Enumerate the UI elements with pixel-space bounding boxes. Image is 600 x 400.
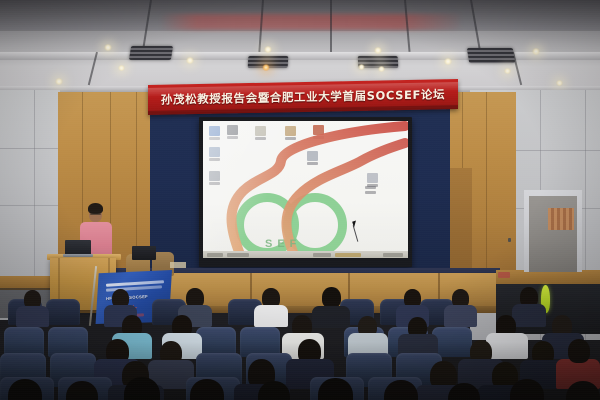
- ceiling-vent: [467, 48, 515, 63]
- ceiling-spotlight: [264, 46, 272, 53]
- ceiling-spotlight-amber: [262, 64, 270, 71]
- doorway-interior-light: [548, 208, 574, 230]
- ceiling-seam: [330, 0, 332, 52]
- audience-head: [322, 287, 341, 308]
- ceiling: [0, 0, 600, 92]
- ceiling-spotlight: [378, 66, 385, 72]
- ceiling-spotlight: [504, 68, 511, 74]
- ceiling-vent: [129, 46, 173, 60]
- audience-head: [448, 383, 480, 400]
- taskbar-item[interactable]: [313, 253, 331, 257]
- audience-head: [566, 381, 600, 400]
- logo-bottom-text: SEF: [265, 238, 301, 250]
- ceiling-spotlight: [104, 44, 112, 51]
- ceiling-spotlight: [374, 47, 382, 54]
- event-banner: 孙茂松教授报告会暨合肥工业大学首届SOCSEF论坛: [148, 79, 458, 115]
- taskbar-item[interactable]: [383, 253, 403, 257]
- ceiling-spotlight: [55, 78, 63, 85]
- speaker-laptop-base[interactable]: [63, 254, 93, 257]
- logo-swooshes: [203, 121, 408, 258]
- audience-area: [0, 285, 600, 400]
- ceiling-spotlight: [556, 80, 563, 86]
- taskbar-item[interactable]: [207, 253, 223, 257]
- wall-panel-line: [0, 148, 60, 149]
- audience-head: [384, 380, 418, 400]
- audience-head: [258, 381, 290, 400]
- audience-head: [318, 378, 353, 400]
- audience-head: [190, 379, 224, 400]
- audience-head: [66, 381, 98, 400]
- audience-head: [124, 377, 160, 400]
- projection-screen[interactable]: SEF: [203, 121, 408, 258]
- taskbar-item[interactable]: [227, 253, 249, 257]
- ceiling-spotlight: [118, 65, 125, 71]
- ceiling-spotlight: [186, 57, 194, 64]
- small-red-object: [498, 272, 510, 278]
- ceiling-spotlight: [444, 58, 452, 65]
- speaker-glasses-icon: [90, 213, 101, 215]
- audience-head: [510, 379, 544, 400]
- lecture-hall-photo: 孙茂松教授报告会暨合肥工业大学首届SOCSEF论坛: [0, 0, 600, 400]
- seat-row-front: [0, 381, 600, 400]
- doorway-handle-icon[interactable]: [508, 238, 511, 242]
- ceiling-spotlight: [358, 64, 365, 70]
- wall-panel-line: [0, 205, 60, 206]
- stage-monitor: [132, 246, 156, 260]
- ceiling-spotlight: [532, 48, 540, 55]
- ceiling-seam: [0, 30, 600, 31]
- projection-screen-frame: SEF: [199, 117, 412, 267]
- speaker-laptop-screen[interactable]: [65, 240, 91, 255]
- taskbar-item[interactable]: [335, 253, 361, 257]
- wood-seam: [486, 92, 487, 277]
- banner-reflection: [160, 14, 460, 30]
- audience-head: [8, 379, 42, 400]
